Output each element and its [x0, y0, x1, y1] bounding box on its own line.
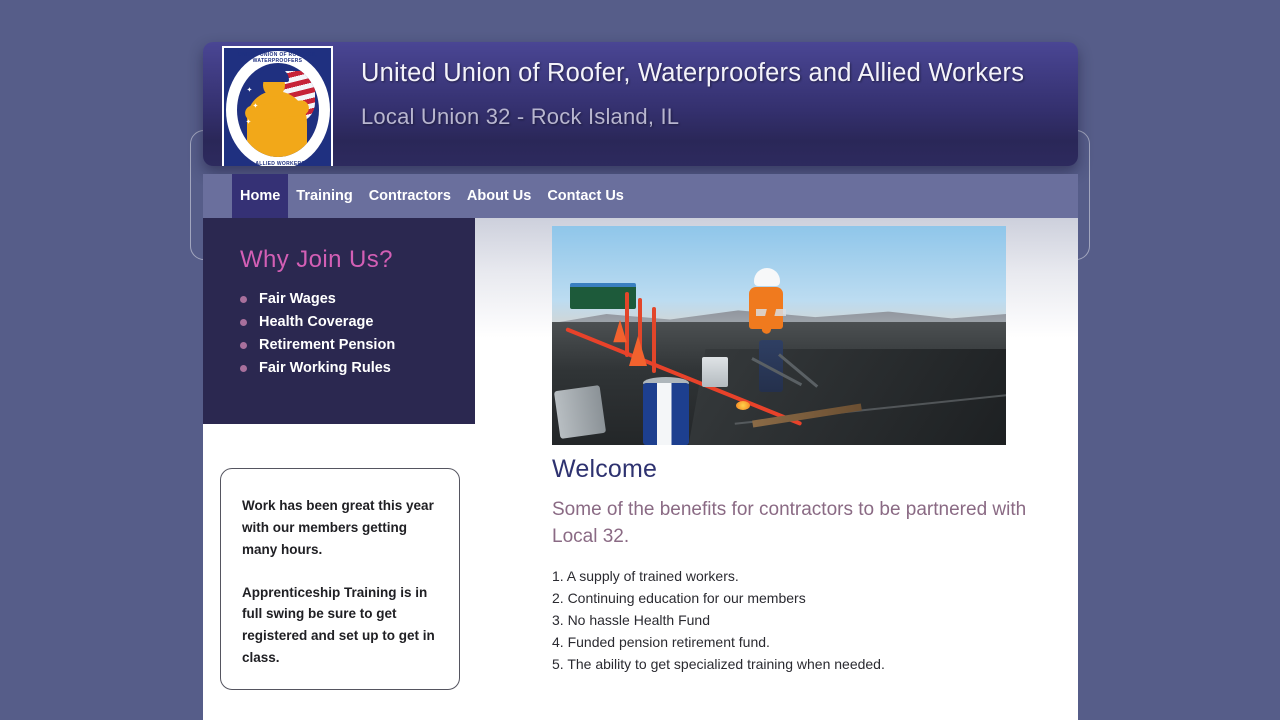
news-box: Work has been great this year with our m…	[220, 468, 460, 690]
union-seal-logo: ✦ ✦ ✦ UNITED UNION OF ROOFERS, WATERPROO…	[222, 46, 333, 166]
nav-item-about-us[interactable]: About Us	[459, 174, 539, 218]
why-join-us-title: Why Join Us?	[240, 246, 475, 274]
left-sidebar: Why Join Us? Fair WagesHealth CoverageRe…	[203, 218, 475, 424]
site-header: ✦ ✦ ✦ UNITED UNION OF ROOFERS, WATERPROO…	[203, 42, 1078, 166]
seal-text-bottom: & ALLIED WORKERS	[224, 161, 331, 166]
seal-text-top: UNITED UNION OF ROOFERS, WATERPROOFERS	[224, 52, 331, 64]
bullet-dot-icon	[240, 365, 247, 372]
why-join-item: Retirement Pension	[240, 337, 475, 353]
contractor-benefit-item: 3. No hassle Health Fund	[552, 609, 1012, 631]
news-paragraph: Apprenticeship Training is in full swing…	[242, 582, 439, 669]
contractor-benefit-item: 5. The ability to get specialized traini…	[552, 653, 1012, 675]
why-join-us-panel: Why Join Us? Fair WagesHealth CoverageRe…	[203, 218, 475, 424]
why-join-item: Fair Wages	[240, 291, 475, 307]
nav-item-training[interactable]: Training	[288, 174, 360, 218]
contractor-benefit-item: 2. Continuing education for our members	[552, 587, 1012, 609]
why-join-item-label: Fair Wages	[259, 291, 336, 307]
why-join-item: Fair Working Rules	[240, 360, 475, 376]
roofer-working-photo	[552, 226, 1006, 445]
nav-item-home[interactable]: Home	[232, 174, 288, 218]
contractor-benefit-item: 1. A supply of trained workers.	[552, 565, 1012, 587]
nav-list: HomeTrainingContractorsAbout UsContact U…	[203, 174, 1078, 218]
main-navigation: HomeTrainingContractorsAbout UsContact U…	[203, 174, 1078, 218]
welcome-subheading: Some of the benefits for contractors to …	[552, 497, 1040, 551]
contractor-benefits-list: 1. A supply of trained workers.2. Contin…	[552, 565, 1012, 676]
news-paragraph: Work has been great this year with our m…	[242, 495, 439, 561]
page-content: Why Join Us? Fair WagesHealth CoverageRe…	[203, 218, 1078, 720]
bullet-dot-icon	[240, 319, 247, 326]
why-join-item: Health Coverage	[240, 314, 475, 330]
welcome-heading: Welcome	[552, 455, 1012, 484]
main-column: Welcome Some of the benefits for contrac…	[552, 218, 1012, 675]
why-join-item-label: Fair Working Rules	[259, 360, 391, 376]
nav-item-contact-us[interactable]: Contact Us	[539, 174, 632, 218]
site-title: United Union of Roofer, Waterproofers an…	[361, 56, 1064, 90]
why-join-item-label: Retirement Pension	[259, 337, 395, 353]
bullet-dot-icon	[240, 296, 247, 303]
bullet-dot-icon	[240, 342, 247, 349]
why-join-us-list: Fair WagesHealth CoverageRetirement Pens…	[240, 291, 475, 376]
contractor-benefit-item: 4. Funded pension retirement fund.	[552, 631, 1012, 653]
why-join-item-label: Health Coverage	[259, 314, 373, 330]
nav-item-contractors[interactable]: Contractors	[361, 174, 459, 218]
site-subtitle: Local Union 32 - Rock Island, IL	[361, 104, 1064, 130]
